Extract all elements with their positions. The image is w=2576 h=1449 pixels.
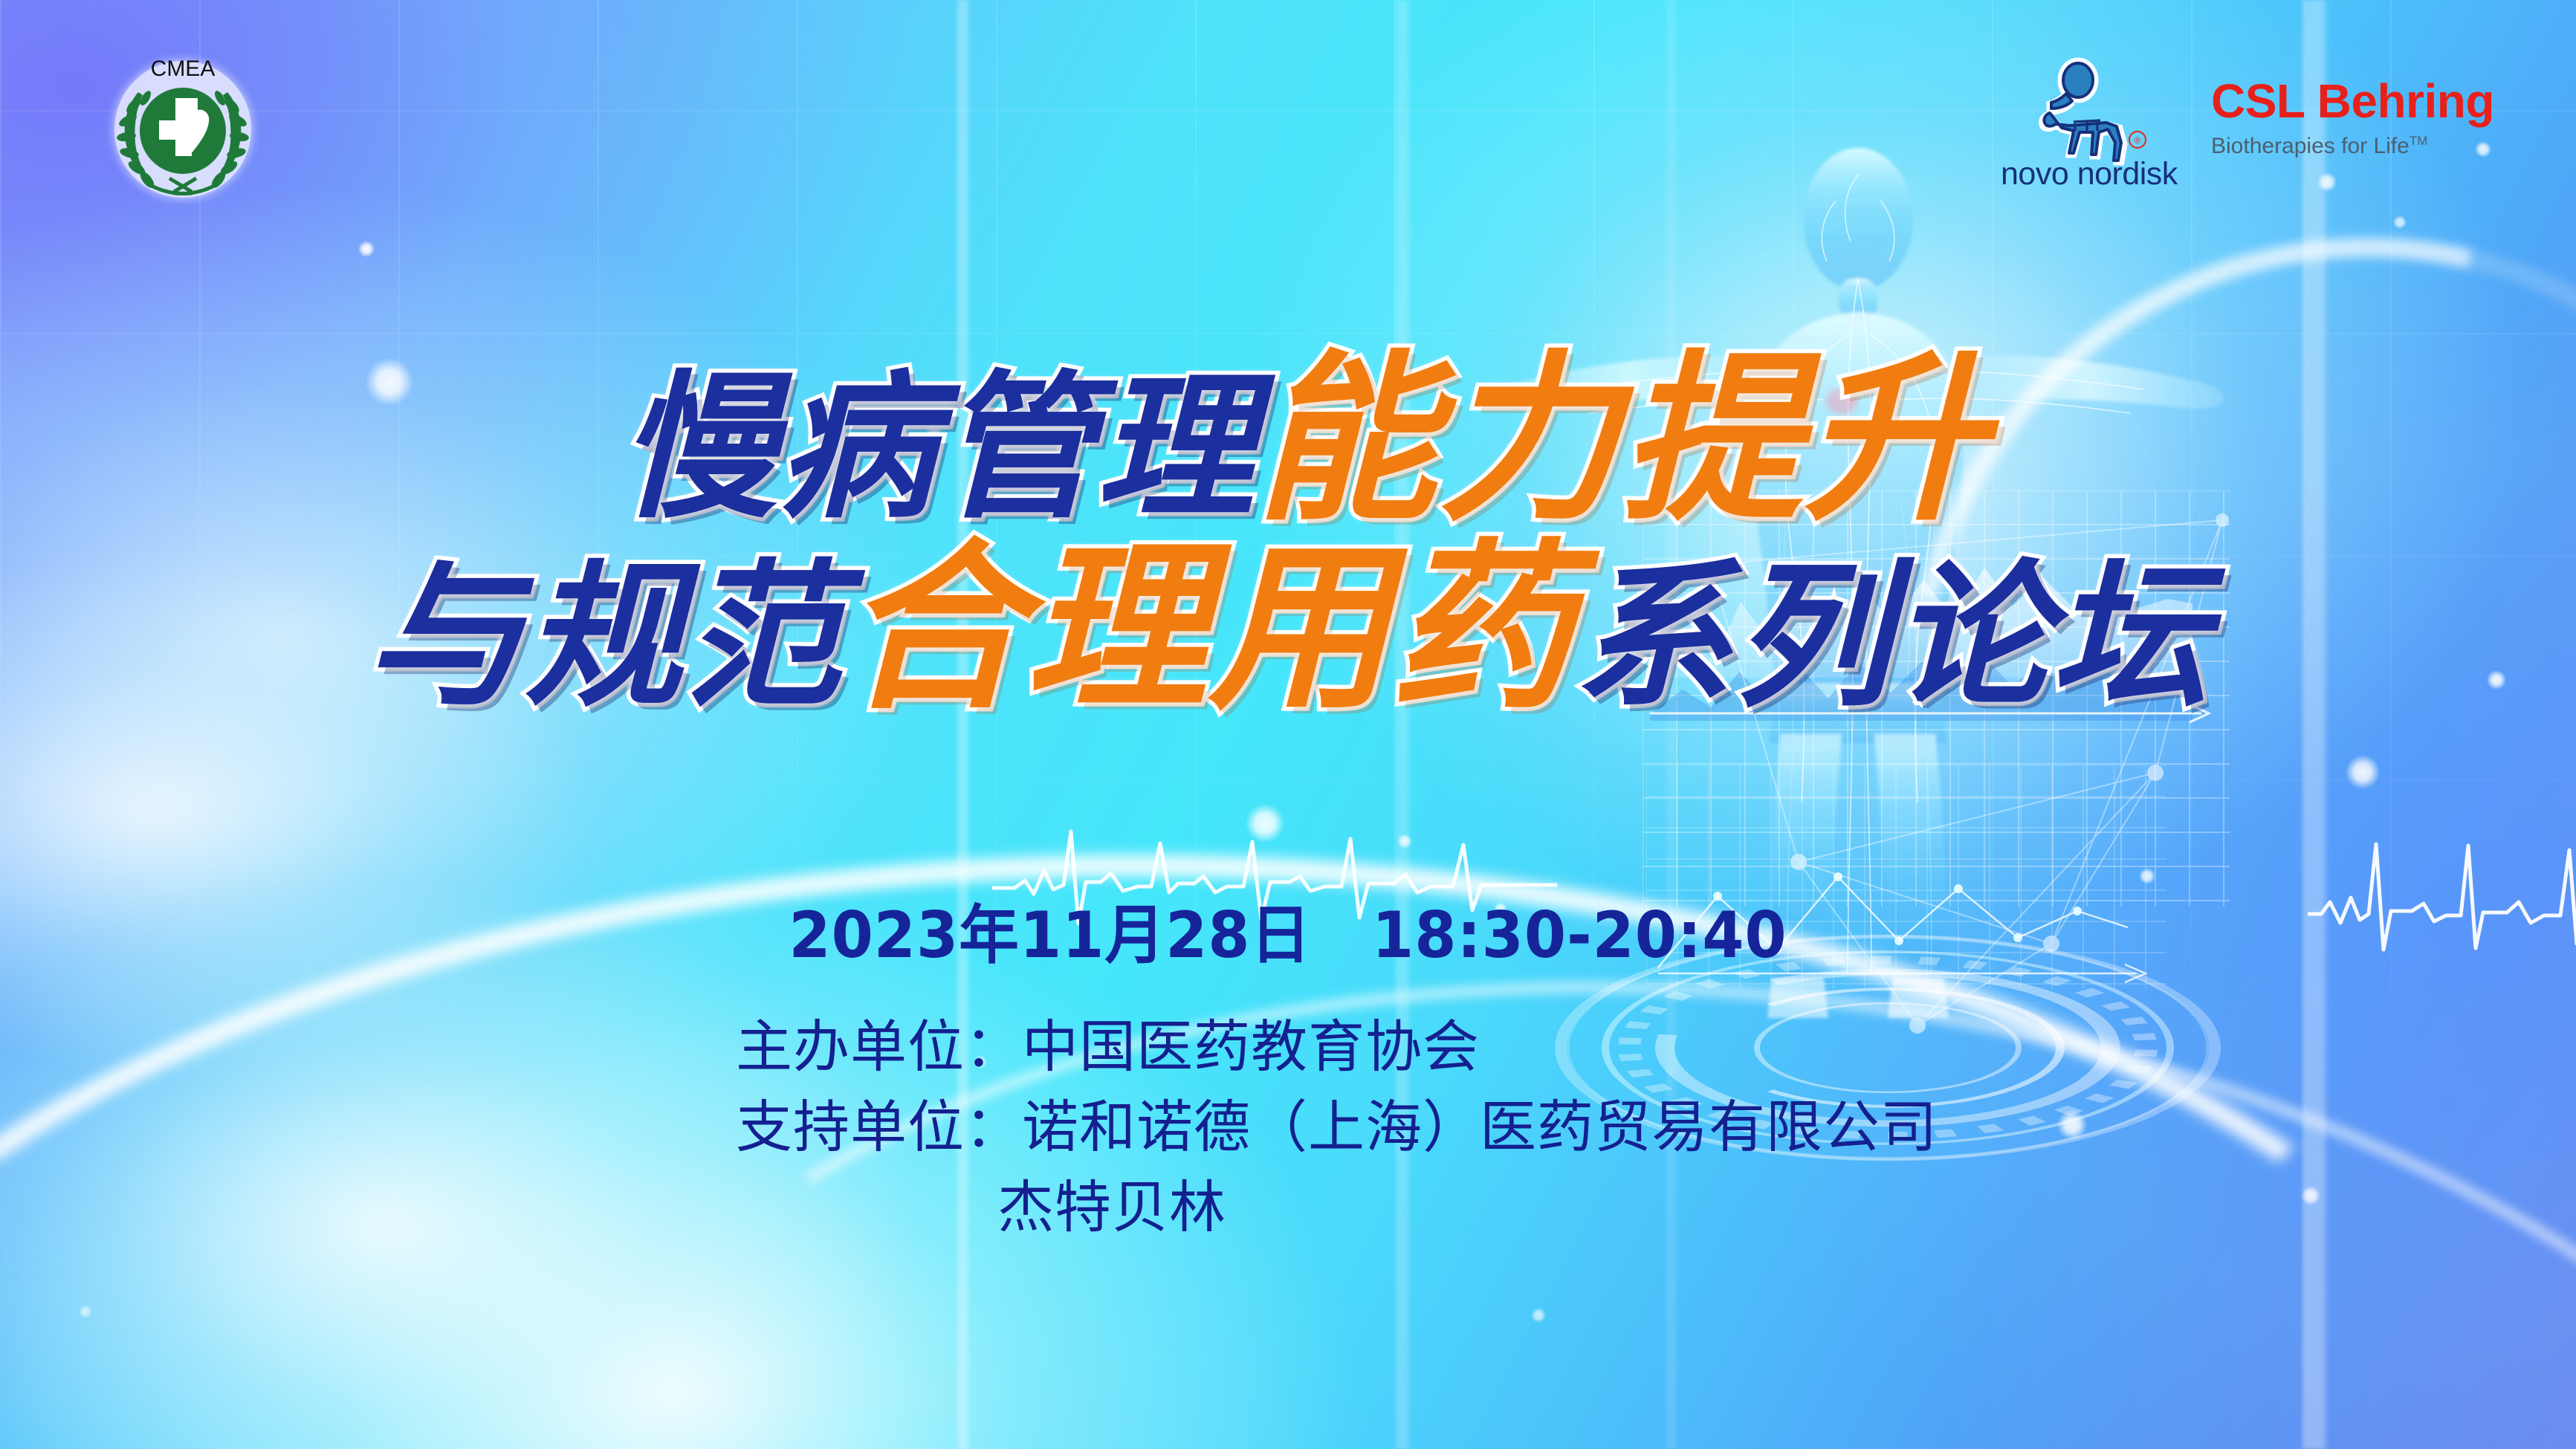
title-seg-nengli-tisheng: 能力提升: [1255, 346, 1987, 535]
poster-title: 慢病管理能力提升 与规范合理用药系列论坛: [0, 346, 2576, 724]
bokeh-dot: [1246, 804, 1284, 843]
title-seg-xilie-luntan: 系列论坛: [1574, 555, 2210, 719]
organizer-line-supporter: 支持单位：诺和诺德（上海）医药贸易有限公司: [736, 1087, 1938, 1167]
trademark-symbol: TM: [2410, 134, 2428, 148]
title-seg-yu-guifan: 与规范: [366, 555, 843, 719]
bokeh-dot: [2139, 868, 2155, 884]
cmea-logo[interactable]: CMEA: [104, 46, 262, 204]
title-line-1: 慢病管理能力提升: [0, 346, 2576, 535]
bokeh-dot: [2057, 1110, 2087, 1140]
bokeh-dot: [2393, 215, 2407, 229]
bokeh-dot: [2346, 755, 2380, 789]
novo-nordisk-bull-icon: ®: [2042, 61, 2146, 162]
organizer-block: 主办单位：中国医药教育协会 支持单位：诺和诺德（上海）医药贸易有限公司 杰特贝林: [736, 1007, 1938, 1248]
bokeh-dot: [2301, 1186, 2320, 1205]
title-line-2: 与规范合理用药系列论坛: [0, 535, 2576, 724]
title-seg-manbing-guanli: 慢病管理: [619, 366, 1255, 530]
organizer-line-supporter-second: 杰特贝林: [736, 1167, 1938, 1248]
bokeh-dot: [358, 241, 375, 257]
novo-nordisk-logo[interactable]: ® novo nordisk: [1996, 56, 2182, 198]
bokeh-dot: [79, 1305, 92, 1318]
csl-behring-logo[interactable]: CSL Behring Biotherapies for LifeTM: [2211, 77, 2531, 189]
cmea-acronym-text: CMEA: [151, 56, 216, 81]
csl-behring-wordmark: CSL Behring: [2211, 77, 2531, 125]
poster-canvas: CMEA: [0, 0, 2576, 1449]
registered-mark-letter: ®: [2135, 135, 2141, 146]
csl-behring-tagline-text: Biotherapies for Life: [2211, 134, 2410, 158]
organizer-line-host: 主办单位：中国医药教育协会: [736, 1007, 1938, 1087]
event-datetime: 2023年11月28日 18:30-20:40: [77, 883, 2499, 976]
title-seg-heli-yongyao: 合理用药: [843, 535, 1574, 724]
bokeh-dot: [1397, 834, 1412, 849]
bokeh-dot: [1531, 1308, 1546, 1323]
csl-behring-tagline: Biotherapies for LifeTM: [2211, 134, 2531, 159]
novo-nordisk-wordmark: novo nordisk: [2001, 156, 2178, 192]
